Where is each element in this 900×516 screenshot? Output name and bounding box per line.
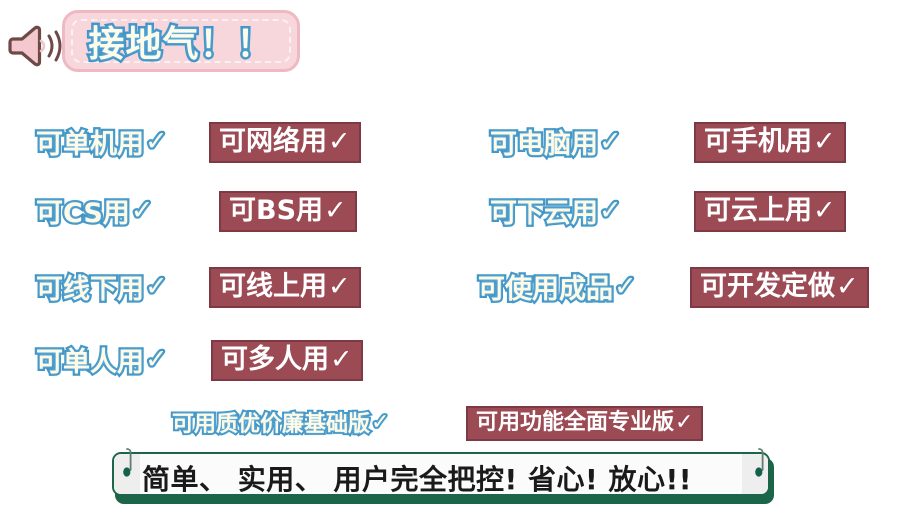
feature-label: 可手机用 <box>704 126 812 157</box>
check-icon: ✓ <box>599 195 622 226</box>
feature-label: 可用功能全面专业版 <box>476 410 674 435</box>
feature-label: 可开发定做 <box>700 271 835 302</box>
check-icon: ✓ <box>145 271 168 302</box>
feature-label: 可CS用 <box>36 191 130 230</box>
feature-item: 可线下用✓ <box>36 267 168 306</box>
feature-badge-red: 可多人用✓ <box>211 340 363 381</box>
banner-text: 简单、 实用、 用户完全把控! 省心! 放心!! <box>142 452 744 504</box>
pin-icon-left <box>120 446 134 480</box>
check-icon: ✓ <box>813 195 836 226</box>
check-icon: ✓ <box>145 344 168 375</box>
check-icon: ✓ <box>328 126 351 157</box>
feature-item: 可多人用✓ <box>211 340 363 381</box>
feature-badge-red: 可手机用✓ <box>694 122 846 163</box>
feature-item: 可单机用✓ <box>36 122 168 161</box>
feature-item: 可网络用✓ <box>209 122 361 163</box>
feature-label: 可单机用 <box>36 122 144 161</box>
check-icon: ✓ <box>330 344 353 375</box>
pin-icon-right <box>752 446 766 480</box>
feature-badge-red: 可用功能全面专业版✓ <box>466 406 703 441</box>
header-pill: 接地气！！ <box>62 10 300 72</box>
check-icon: ✓ <box>614 271 637 302</box>
feature-badge-red: 可云上用✓ <box>694 191 846 232</box>
feature-label: 可下云用 <box>490 191 598 230</box>
feature-badge-red: 可网络用✓ <box>209 122 361 163</box>
feature-label: 可电脑用 <box>490 122 598 161</box>
check-icon: ✓ <box>599 126 622 157</box>
feature-label: 可线下用 <box>36 267 144 306</box>
page-title: 接地气！！ <box>65 13 297 69</box>
check-icon: ✓ <box>371 410 389 435</box>
check-icon: ✓ <box>145 126 168 157</box>
feature-item: 可下云用✓ <box>490 191 622 230</box>
feature-label: 可单人用 <box>36 340 144 379</box>
feature-label: 可云上用 <box>704 195 812 226</box>
feature-label: 可使用成品 <box>478 267 613 306</box>
feature-item: 可用功能全面专业版✓ <box>466 406 703 441</box>
feature-badge-red: 可开发定做✓ <box>690 267 869 308</box>
feature-label: 可多人用 <box>221 344 329 375</box>
feature-badge-red: 可BS用✓ <box>219 191 357 232</box>
feature-item: 可用质优价廉基础版✓ <box>172 406 389 438</box>
feature-item: 可单人用✓ <box>36 340 168 379</box>
feature-label: 可用质优价廉基础版 <box>172 406 370 438</box>
feature-item: 可手机用✓ <box>694 122 846 163</box>
check-icon: ✓ <box>675 410 693 435</box>
feature-item: 可开发定做✓ <box>690 267 869 308</box>
feature-item: 可BS用✓ <box>219 191 357 232</box>
feature-item: 可使用成品✓ <box>478 267 637 306</box>
feature-item: 可电脑用✓ <box>490 122 622 161</box>
check-icon: ✓ <box>836 271 859 302</box>
bottom-banner: 简单、 实用、 用户完全把控! 省心! 放心!! <box>112 452 774 504</box>
feature-item: 可云上用✓ <box>694 191 846 232</box>
feature-badge-red: 可线上用✓ <box>209 267 361 308</box>
feature-label: 可网络用 <box>219 126 327 157</box>
feature-item: 可线上用✓ <box>209 267 361 308</box>
feature-label: 可BS用 <box>229 195 323 226</box>
check-icon: ✓ <box>328 271 351 302</box>
check-icon: ✓ <box>131 195 154 226</box>
feature-item: 可CS用✓ <box>36 191 153 230</box>
feature-label: 可线上用 <box>219 271 327 302</box>
check-icon: ✓ <box>813 126 836 157</box>
header-area: 接地气！！ <box>0 0 900 92</box>
check-icon: ✓ <box>324 195 347 226</box>
speaker-icon <box>8 24 70 68</box>
